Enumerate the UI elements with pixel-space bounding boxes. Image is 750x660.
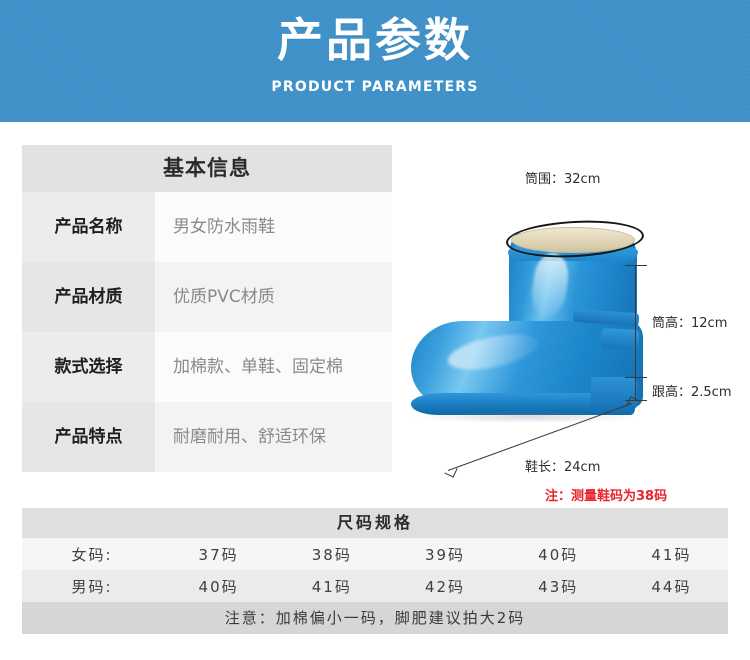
rain-boot-image: [405, 225, 650, 440]
size-cell-women-5: 41码: [615, 544, 728, 565]
product-photo-zone: 筒围：32cm 筒高：12cm 跟高：2.5cm 鞋长：24cm 注：测量鞋码为…: [400, 140, 750, 505]
basic-info-header: 基本信息: [22, 145, 392, 192]
size-spec-table: 尺码规格 女码: 37码 38码 39码 40码 41码 男码: 40码 41码…: [22, 508, 728, 634]
size-advice-note: 注意：加棉偏小一码，脚肥建议拍大2码: [22, 602, 728, 634]
measure-tick-top: [625, 265, 647, 266]
table-row-men-sizes: 男码: 40码 41码 42码 43码 44码: [22, 570, 728, 602]
info-value-product-name: 男女防水雨鞋: [155, 192, 392, 262]
table-row-women-sizes: 女码: 37码 38码 39码 40码 41码: [22, 538, 728, 570]
table-row: 款式选择 加棉款、单鞋、固定棉: [22, 332, 392, 402]
info-label-material: 产品材质: [22, 262, 155, 332]
annotation-shaft-height: 筒高：12cm: [652, 312, 727, 331]
size-cell-women-1: 37码: [162, 544, 275, 565]
vertical-measure-line: [635, 265, 636, 400]
table-row: 产品特点 耐磨耐用、舒适环保: [22, 402, 392, 472]
annotation-heel-height: 跟高：2.5cm: [652, 381, 732, 400]
info-value-features: 耐磨耐用、舒适环保: [155, 402, 392, 472]
size-cell-men-5: 44码: [615, 576, 728, 597]
page-banner: 产品参数 PRODUCT PARAMETERS: [0, 0, 750, 122]
size-row-label-men: 男码:: [22, 576, 162, 597]
measure-tick-middle: [625, 377, 647, 378]
size-spec-header: 尺码规格: [22, 508, 728, 538]
measure-size-note: 注：测量鞋码为38码: [545, 485, 667, 504]
table-row: 产品名称 男女防水雨鞋: [22, 192, 392, 262]
info-label-features: 产品特点: [22, 402, 155, 472]
size-cell-men-3: 42码: [388, 576, 501, 597]
table-row: 产品材质 优质PVC材质: [22, 262, 392, 332]
boot-buckle: [601, 328, 640, 350]
info-value-style: 加棉款、单鞋、固定棉: [155, 332, 392, 402]
size-cell-women-4: 40码: [502, 544, 615, 565]
annotation-shaft-circumference: 筒围：32cm: [525, 168, 600, 187]
annotation-shoe-length: 鞋长：24cm: [525, 456, 600, 475]
size-cell-men-2: 41码: [275, 576, 388, 597]
size-cell-men-1: 40码: [162, 576, 275, 597]
info-label-product-name: 产品名称: [22, 192, 155, 262]
info-label-style: 款式选择: [22, 332, 155, 402]
size-cell-men-4: 43码: [502, 576, 615, 597]
info-value-material: 优质PVC材质: [155, 262, 392, 332]
page-subtitle: PRODUCT PARAMETERS: [0, 79, 750, 95]
size-row-label-women: 女码:: [22, 544, 162, 565]
size-cell-women-2: 38码: [275, 544, 388, 565]
size-cell-women-3: 39码: [388, 544, 501, 565]
page-title: 产品参数: [0, 14, 750, 66]
basic-info-table: 基本信息 产品名称 男女防水雨鞋 产品材质 优质PVC材质 款式选择 加棉款、单…: [22, 145, 392, 472]
